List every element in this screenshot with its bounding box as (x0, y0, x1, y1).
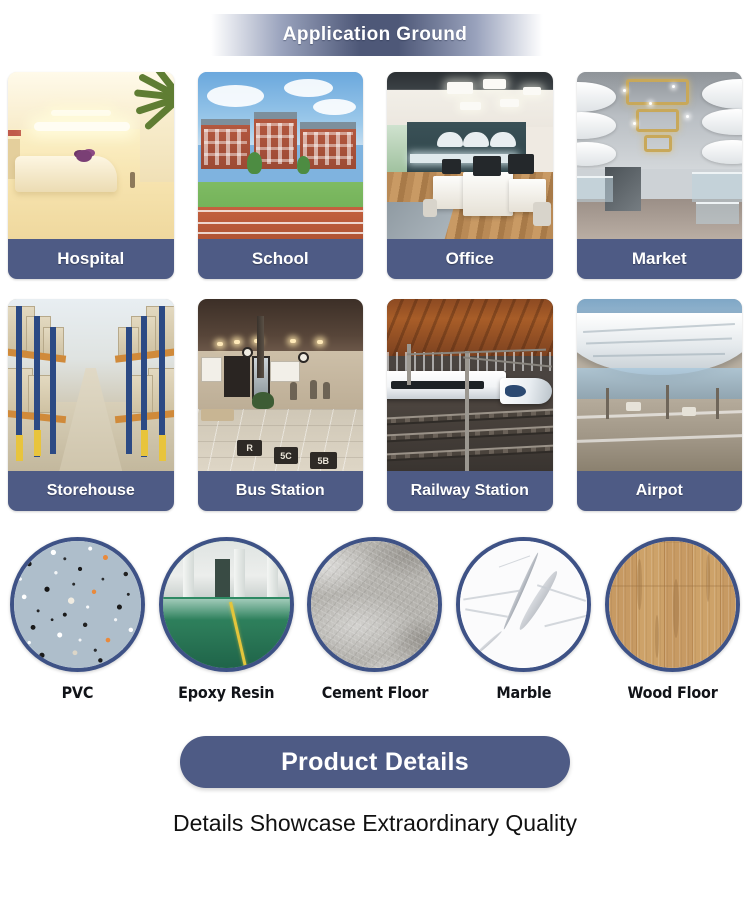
application-card-label: Office (387, 239, 553, 279)
application-card-label: Market (577, 239, 743, 279)
application-card-label: Hospital (8, 239, 174, 279)
airport-photo (577, 299, 743, 471)
material-label: PVC (62, 683, 94, 702)
application-card-school[interactable]: School (198, 72, 364, 279)
application-card-bus-station[interactable]: R 5C 5B Bus Station (198, 299, 364, 511)
tagline-text: Details Showcase Extraordinary Quality (0, 810, 750, 837)
application-card-label: Railway Station (387, 471, 553, 511)
application-ground-header: Application Ground (0, 0, 750, 56)
application-card-railway-station[interactable]: Railway Station (387, 299, 553, 511)
material-swatch-row: PVC Epoxy Resin Cement (0, 537, 750, 702)
material-label: Wood Floor (628, 683, 718, 702)
application-card-airport[interactable]: Airpot (577, 299, 743, 511)
wood-swatch-circle (605, 537, 740, 672)
application-card-label: Storehouse (8, 471, 174, 511)
application-card-label: Bus Station (198, 471, 364, 511)
application-card-storehouse[interactable]: Storehouse (8, 299, 174, 511)
application-grid-row-2: Storehouse (0, 299, 750, 511)
material-item-marble[interactable]: Marble (452, 537, 595, 702)
material-label: Epoxy Resin (178, 683, 274, 702)
office-photo (387, 72, 553, 239)
school-photo (198, 72, 364, 239)
bus-station-photo: R 5C 5B (198, 299, 364, 471)
cement-swatch-circle (307, 537, 442, 672)
application-card-label: School (198, 239, 364, 279)
product-details-label: Product Details (281, 748, 469, 777)
product-details-button[interactable]: Product Details (180, 736, 570, 788)
material-label: Cement Floor (322, 683, 428, 702)
header-gradient-bar: Application Ground (180, 14, 570, 56)
promo-page: Application Ground (0, 0, 750, 899)
material-label: Marble (496, 683, 551, 702)
application-card-office[interactable]: Office (387, 72, 553, 279)
material-item-epoxy-resin[interactable]: Epoxy Resin (155, 537, 298, 702)
hospital-photo (8, 72, 174, 239)
material-item-cement-floor[interactable]: Cement Floor (304, 537, 447, 702)
product-details-section: Product Details (0, 736, 750, 788)
application-card-market[interactable]: Market (577, 72, 743, 279)
railway-station-photo (387, 299, 553, 471)
application-grid-row-1: Hospital (0, 72, 750, 279)
market-photo (577, 72, 743, 239)
storehouse-photo (8, 299, 174, 471)
epoxy-swatch-circle (159, 537, 294, 672)
header-title: Application Ground (283, 24, 468, 46)
pvc-swatch-circle (10, 537, 145, 672)
material-item-pvc[interactable]: PVC (6, 537, 149, 702)
marble-swatch-circle (456, 537, 591, 672)
application-card-label: Airpot (577, 471, 743, 511)
material-item-wood-floor[interactable]: Wood Floor (601, 537, 744, 702)
application-card-hospital[interactable]: Hospital (8, 72, 174, 279)
